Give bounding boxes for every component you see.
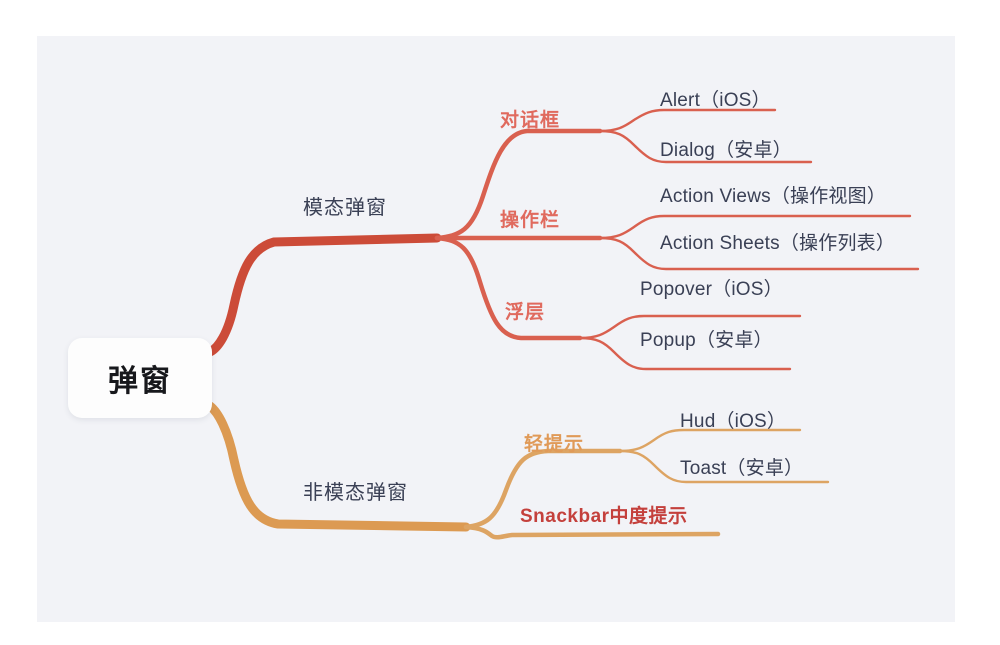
branch-snackbar bbox=[466, 527, 718, 537]
branch-label-dialog[interactable]: 对话框 bbox=[500, 111, 560, 130]
leaf-label-dialog[interactable]: Dialog（安卓） bbox=[660, 141, 792, 160]
leaf-label-hud[interactable]: Hud（iOS） bbox=[680, 412, 786, 431]
branch-label-modal[interactable]: 模态弹窗 bbox=[303, 198, 387, 218]
trunk-modal bbox=[210, 238, 437, 352]
leaf-label-alert[interactable]: Alert（iOS） bbox=[660, 91, 771, 110]
leaf-label-popover[interactable]: Popover（iOS） bbox=[640, 280, 783, 299]
leaf-label-action-views[interactable]: Action Views（操作视图） bbox=[660, 187, 886, 206]
branch-label-light-toast[interactable]: 轻提示 bbox=[524, 435, 584, 454]
branch-label-action-bar[interactable]: 操作栏 bbox=[500, 211, 560, 230]
root-node[interactable]: 弹窗 bbox=[68, 338, 212, 418]
leaf-label-action-sheets[interactable]: Action Sheets（操作列表） bbox=[660, 234, 895, 253]
mindmap-page: 弹窗 模态弹窗 非模态弹窗 对话框 操作栏 浮层 轻提示 Snackbar中度提… bbox=[0, 0, 1000, 645]
leaf-label-toast[interactable]: Toast（安卓） bbox=[680, 459, 803, 478]
leaf-label-popup[interactable]: Popup（安卓） bbox=[640, 331, 773, 350]
trunk-non-modal bbox=[210, 406, 466, 527]
leaf-connector-hud bbox=[620, 430, 800, 451]
root-node-label: 弹窗 bbox=[108, 356, 172, 400]
leaf-connector-alert bbox=[600, 110, 775, 131]
mindmap-connectors bbox=[0, 0, 1000, 645]
branch-label-snackbar[interactable]: Snackbar中度提示 bbox=[520, 507, 688, 526]
branch-label-non-modal[interactable]: 非模态弹窗 bbox=[303, 483, 408, 503]
branch-floating-layer bbox=[437, 238, 580, 338]
branch-label-floating-layer[interactable]: 浮层 bbox=[505, 303, 545, 322]
